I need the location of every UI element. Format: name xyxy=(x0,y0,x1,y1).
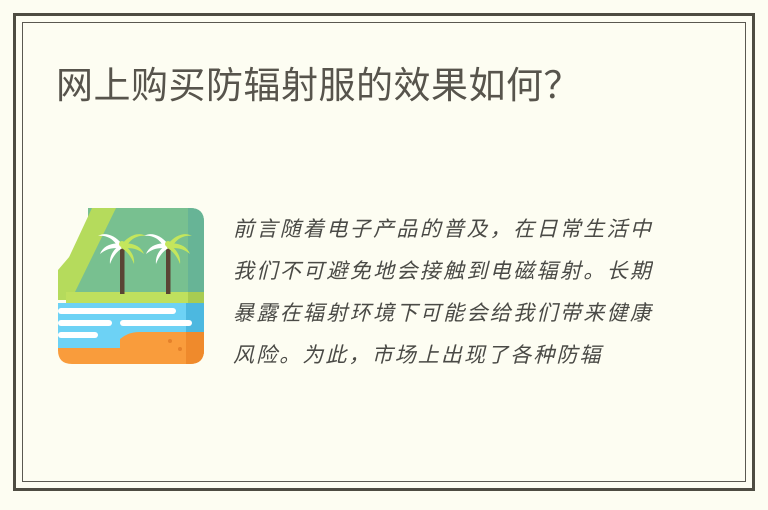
article-thumbnail xyxy=(58,208,204,364)
article-card-page: 网上购买防辐射服的效果如何？ xyxy=(0,0,768,510)
article-excerpt: 前言随着电子产品的普及，在日常生活中我们不可避免地会接触到电磁辐射。长期暴露在辐… xyxy=(233,208,653,376)
page-title: 网上购买防辐射服的效果如何？ xyxy=(56,63,696,109)
beach-island-icon xyxy=(58,208,204,364)
article-content-row: 前言随着电子产品的普及，在日常生活中我们不可避免地会接触到电磁辐射。长期暴露在辐… xyxy=(56,200,676,450)
